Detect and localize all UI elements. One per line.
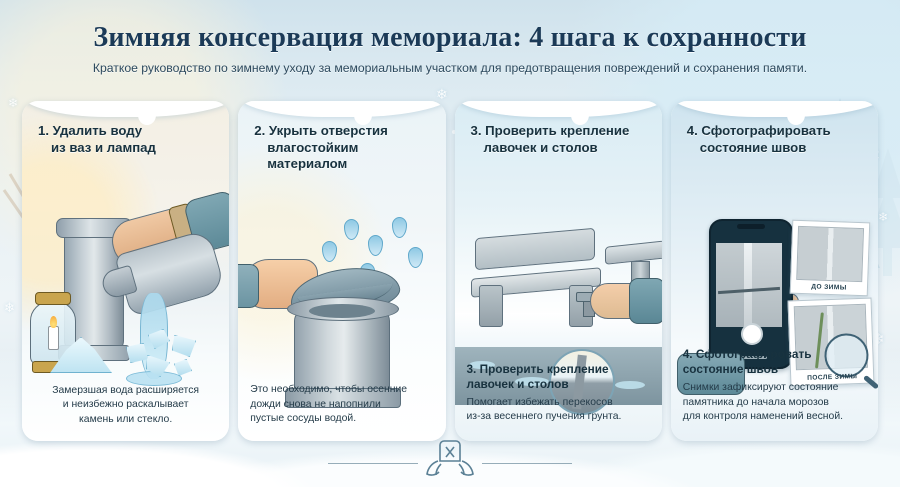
ice-shards-icon [126, 329, 200, 377]
heading-line: 3. Проверить крепление [471, 123, 650, 140]
step-1-caption: Замерзшая вода расширяется и неизбежно р… [34, 384, 217, 427]
step-3-caption: Помогает избежать перекосов из-за весенн… [467, 396, 652, 425]
snowflake-icon: ❄ [8, 96, 18, 110]
heading-line: 3. Проверить крепление [467, 362, 609, 376]
page-title: Зимняя консервация мемориала: 4 шага к с… [0, 22, 900, 54]
step-4-body-heading: 4. Сфотографировать состояние швов [683, 347, 868, 377]
steps-container: 1. Удалить воду из ваз и лампад Замерзша… [22, 101, 878, 441]
phone-notch [737, 224, 765, 229]
step-card-4[interactable]: ДО ЗИМЫ ПОСЛЕ ЗИМЫ 4. Сфотографировать с… [671, 101, 878, 441]
stone-left [716, 243, 746, 327]
caption-line: Помогает избежать перекосов [467, 397, 613, 408]
heading-line: 4. Сфотографировать [683, 347, 812, 361]
heading-line: влагостойким [254, 140, 433, 157]
camera-viewfinder [716, 243, 782, 327]
heading-line: материалом [254, 156, 433, 173]
bench-leg [479, 285, 503, 327]
heading-line: лавочек и столов [471, 140, 650, 157]
step-4-heading: 4. Сфотографировать состояние швов [687, 123, 866, 156]
page-subtitle: Краткое руководство по зимнему уходу за … [0, 61, 900, 75]
caption-line: Снимки зафиксируют состояние [683, 382, 839, 393]
caption-line: Замерзшая вода расширяется [52, 385, 199, 396]
caption-line: из-за весеннего пучения грунта. [467, 411, 622, 422]
lamp-cap [35, 292, 71, 305]
hand-icon [590, 283, 656, 319]
photo-image [796, 226, 864, 282]
step-1-heading: 1. Удалить воду из ваз и лампад [38, 123, 217, 156]
caption-line: пустые сосуды водой. [250, 413, 356, 424]
step-2-heading: 2. Укрыть отверстия влагостойким материа… [254, 123, 433, 173]
heading-line: состояние швов [687, 140, 866, 157]
caption-line: Это необходимо, чтобы осенние [250, 384, 407, 395]
footer [0, 435, 900, 481]
sleeve [238, 264, 259, 308]
step-card-2[interactable]: 2. Укрыть отверстия влагостойким материа… [238, 101, 445, 441]
step-4-caption: Снимки зафиксируют состояние памятника д… [683, 381, 868, 425]
caption-line: и неизбежно раскалывает [63, 399, 189, 410]
step-3-heading: 3. Проверить крепление лавочек и столов [471, 123, 650, 156]
caption-line: дожди снова не напопнили [250, 399, 381, 410]
caption-line: памятника до начала морозов [683, 397, 829, 408]
divider-left [328, 463, 418, 464]
heading-line: состояние швов [683, 362, 778, 376]
bench-back [475, 228, 595, 270]
header: Зимняя консервация мемориала: 4 шага к с… [0, 0, 900, 92]
infographic-canvas: ❄ ❄ ❄ ❄ ❄ ❄ ❄ Зимняя консервация мемориа… [0, 0, 900, 487]
step-2-caption: Это необходимо, чтобы осенние дожди снов… [250, 383, 435, 427]
step-4-body: 4. Сфотографировать состояние швов Снимк… [683, 347, 868, 425]
step-3-body-heading: 3. Проверить крепление лавочек и столов [467, 362, 652, 392]
step-card-3[interactable]: 3. Проверить крепление лавочек и столов … [455, 101, 662, 441]
caption-line: камень или стекло. [79, 414, 172, 425]
heading-line: 1. Удалить воду [38, 123, 217, 140]
shutter-button[interactable] [741, 323, 763, 345]
step-3-body: 3. Проверить крепление лавочек и столов … [467, 362, 652, 425]
photo-before-winter: ДО ЗИМЫ [789, 220, 870, 297]
heading-line: 4. Сфотографировать [687, 123, 866, 140]
stone-right [752, 243, 782, 327]
candle-flame-icon [48, 326, 59, 350]
heading-line: лавочек и столов [467, 377, 569, 391]
caption-line: для контроля наменений весной. [683, 411, 843, 422]
hands-holding-memorial-stone-logo [422, 437, 478, 479]
photo-label: ДО ЗИМЫ [791, 283, 867, 293]
stone-bench-icon [471, 233, 601, 321]
sleeve [629, 278, 662, 324]
step-card-1[interactable]: 1. Удалить воду из ваз и лампад Замерзша… [22, 101, 229, 441]
heading-line: из ваз и лампад [38, 140, 217, 157]
vase-opening [309, 304, 375, 318]
heading-line: 2. Укрыть отверстия [254, 123, 433, 140]
divider-right [482, 463, 572, 464]
